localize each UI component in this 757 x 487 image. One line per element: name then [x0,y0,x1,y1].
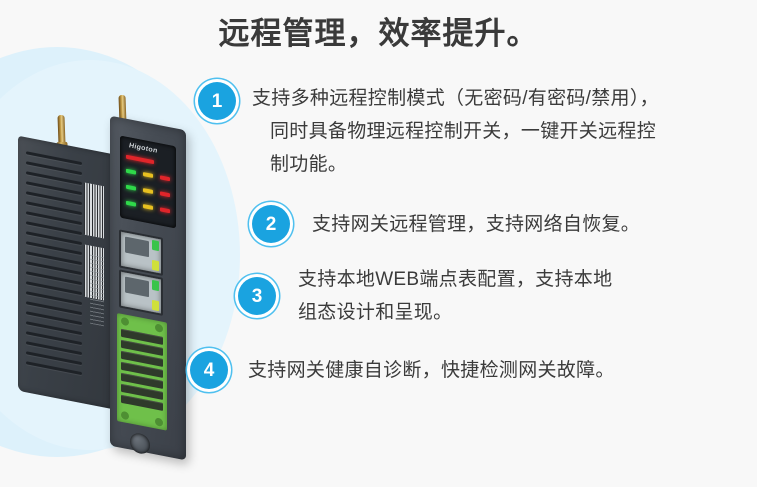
feature-text-3: 支持本地WEB端点表配置，支持本地 组态设计和呈现。 [298,263,612,329]
feature-badge-2: 2 [252,205,290,243]
ventilation-slots [26,151,82,377]
antenna-connector-left [57,115,65,145]
feature-text-3-line-2: 组态设计和呈现。 [298,296,612,329]
promo-banner: 远程管理，效率提升。 Higoton [0,0,757,487]
feature-item-3: 3 支持本地WEB端点表配置，支持本地 组态设计和呈现。 [238,263,750,329]
led-indicator-plate: Higoton [120,136,176,229]
reset-button [130,432,150,456]
feature-text-4: 支持网关健康自诊断，快捷检测网关故障。 [248,351,615,387]
device-side-marking [90,254,104,327]
feature-item-4: 4 支持网关健康自诊断，快捷检测网关故障。 [190,351,750,389]
feature-item-1: 1 支持多种远程控制模式（无密码/有密码/禁用）， 同时具备物理远程控制开关，一… [198,82,750,181]
feature-list: 1 支持多种远程控制模式（无密码/有密码/禁用）， 同时具备物理远程控制开关，一… [190,82,750,389]
ethernet-port-1 [119,229,163,276]
feature-text-1: 支持多种远程控制模式（无密码/有密码/禁用）， 同时具备物理远程控制开关，一键开… [252,82,732,181]
terminal-block-connector [117,313,167,431]
feature-badge-3: 3 [238,277,276,315]
feature-badge-4: 4 [190,351,228,389]
led-power-bar [126,155,154,164]
feature-text-2: 支持网关远程管理，支持网络自恢复。 [312,205,640,241]
barcode-label-top [84,182,104,238]
feature-text-1-line-2: 同时具备物理远程控制开关，一键开关远程控 [252,115,732,148]
led-row-3 [126,201,172,215]
page-title: 远程管理，效率提升。 [0,8,757,53]
led-row-1 [126,169,172,183]
ethernet-port-2 [119,269,163,316]
device-front-panel: Higoton [110,116,186,461]
feature-item-2: 2 支持网关远程管理，支持网络自恢复。 [252,205,750,243]
brand-logo-text: Higoton [129,142,158,155]
led-row-2 [126,185,172,199]
feature-badge-1: 1 [198,82,236,120]
feature-text-3-line-1: 支持本地WEB端点表配置，支持本地 [298,263,612,296]
feature-text-1-line-3: 制功能。 [252,148,732,181]
feature-text-1-line-1: 支持多种远程控制模式（无密码/有密码/禁用）， [252,88,659,109]
